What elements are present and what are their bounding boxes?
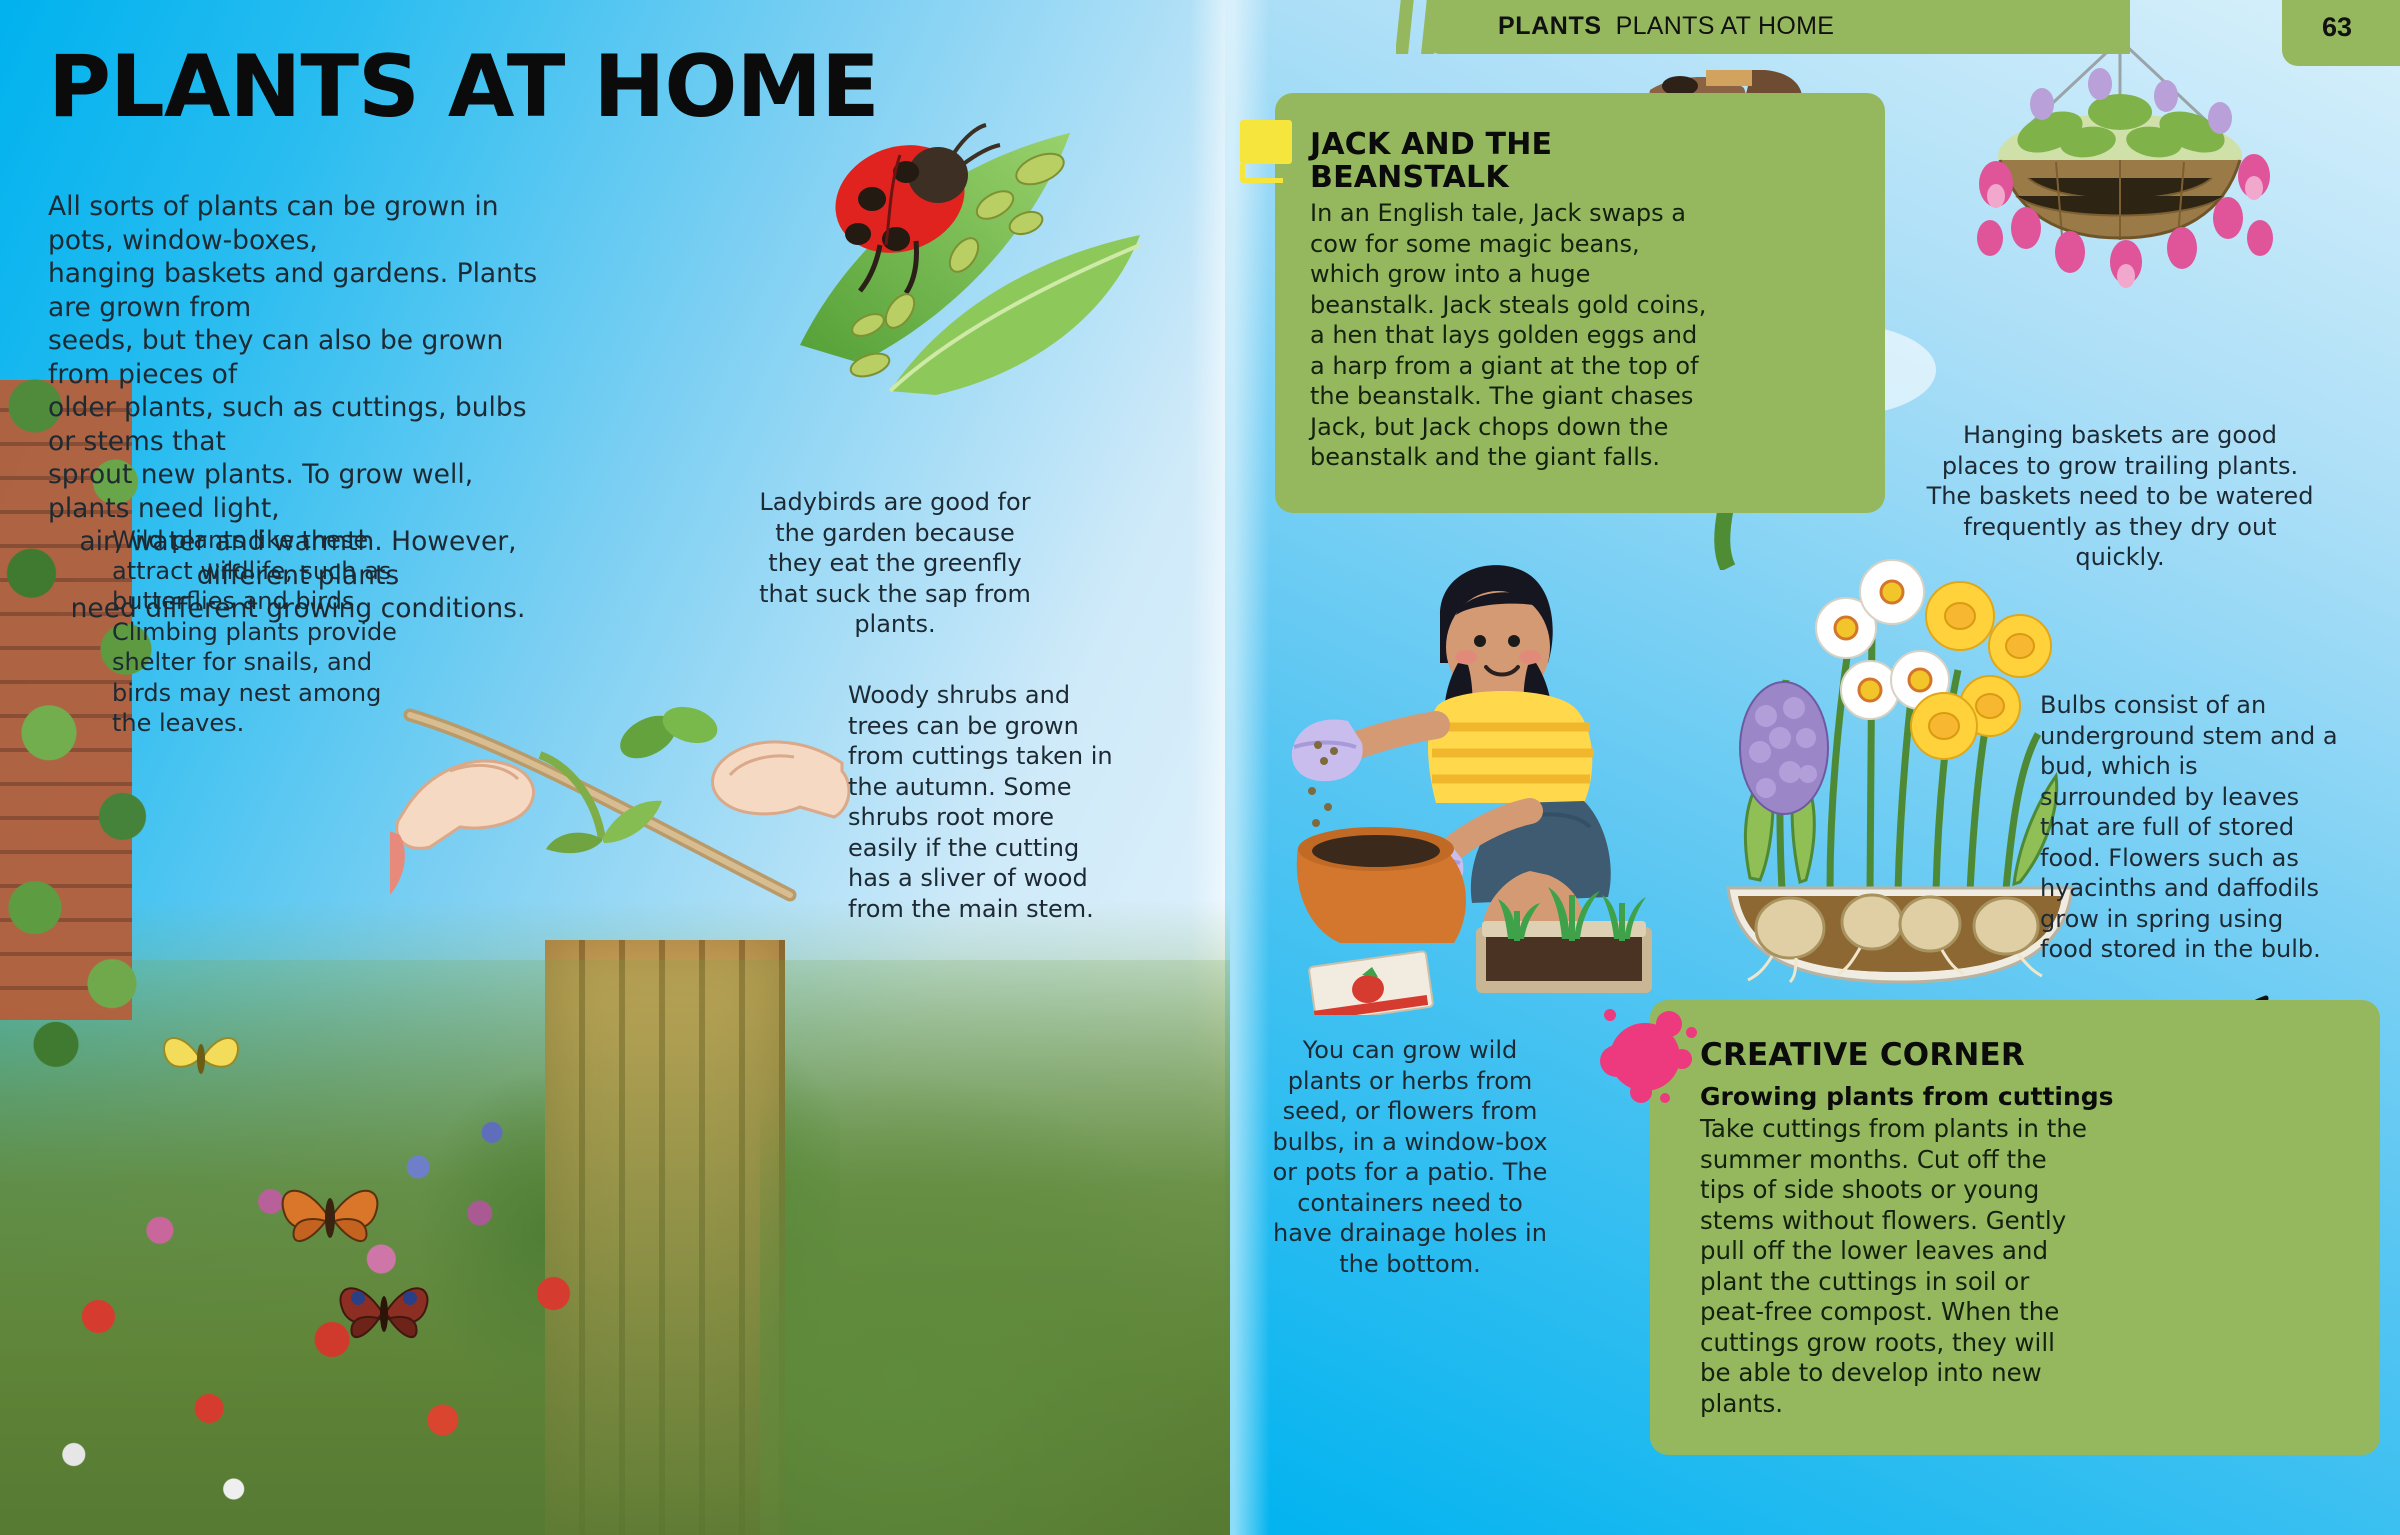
book-spread-page: JACK AND THE BEANSTALK In an English tal…: [0, 0, 2400, 1535]
header-section-label: PLANTS: [1498, 12, 1602, 40]
book-icon: [1240, 120, 1296, 182]
intro-line-4: older plants, such as cuttings, bulbs or…: [48, 391, 548, 458]
page-title: PLANTS AT HOME: [48, 44, 879, 130]
caption-grow-wild-plants: You can grow wild plants or herbs from s…: [1270, 1035, 1550, 1279]
intro-line-2: hanging baskets and gardens. Plants are …: [48, 257, 548, 324]
header-breadcrumb: PLANTSPLANTS AT HOME: [1498, 12, 1834, 41]
page-number: 63: [2322, 12, 2352, 43]
hands-taking-cutting-illustration: [390, 595, 850, 925]
girl-sowing-seeds-illustration: [1290, 555, 1710, 1015]
paint-splat-icon: [1600, 1005, 1712, 1110]
caption-hanging-baskets: Hanging baskets are good places to grow …: [1925, 420, 2315, 573]
bulbs-bowl-illustration: [1720, 530, 2080, 990]
intro-line-1: All sorts of plants can be grown in pots…: [48, 190, 548, 257]
creative-corner-title: CREATIVE CORNER: [1700, 1038, 2025, 1072]
ladybird-on-leaf-illustration: [740, 95, 1160, 395]
caption-wild-plants: Wild plants like these attract wildlife,…: [112, 525, 412, 739]
yellow-butterfly-illustration: [155, 1015, 245, 1095]
grass-sweep-illustration: [760, 1010, 1230, 1535]
jack-panel-body: In an English tale, Jack swaps a cow for…: [1310, 198, 1710, 473]
creative-corner-body: Take cuttings from plants in the summer …: [1700, 1114, 2090, 1419]
caption-bulbs: Bulbs consist of an underground stem and…: [2040, 690, 2340, 965]
peacock-butterfly-illustration: [330, 1260, 440, 1360]
header-topic-label: PLANTS AT HOME: [1616, 12, 1835, 40]
caption-woody-shrubs: Woody shrubs and trees can be grown from…: [848, 680, 1113, 924]
intro-line-3: seeds, but they can also be grown from p…: [48, 324, 548, 391]
jack-panel-title: JACK AND THE BEANSTALK: [1310, 128, 1640, 194]
butterfly-illustration: [270, 1160, 390, 1270]
creative-corner-subtitle: Growing plants from cuttings: [1700, 1082, 2130, 1111]
caption-ladybirds: Ladybirds are good for the garden becaus…: [745, 487, 1045, 640]
intro-line-5: sprout new plants. To grow well, plants …: [48, 458, 548, 525]
